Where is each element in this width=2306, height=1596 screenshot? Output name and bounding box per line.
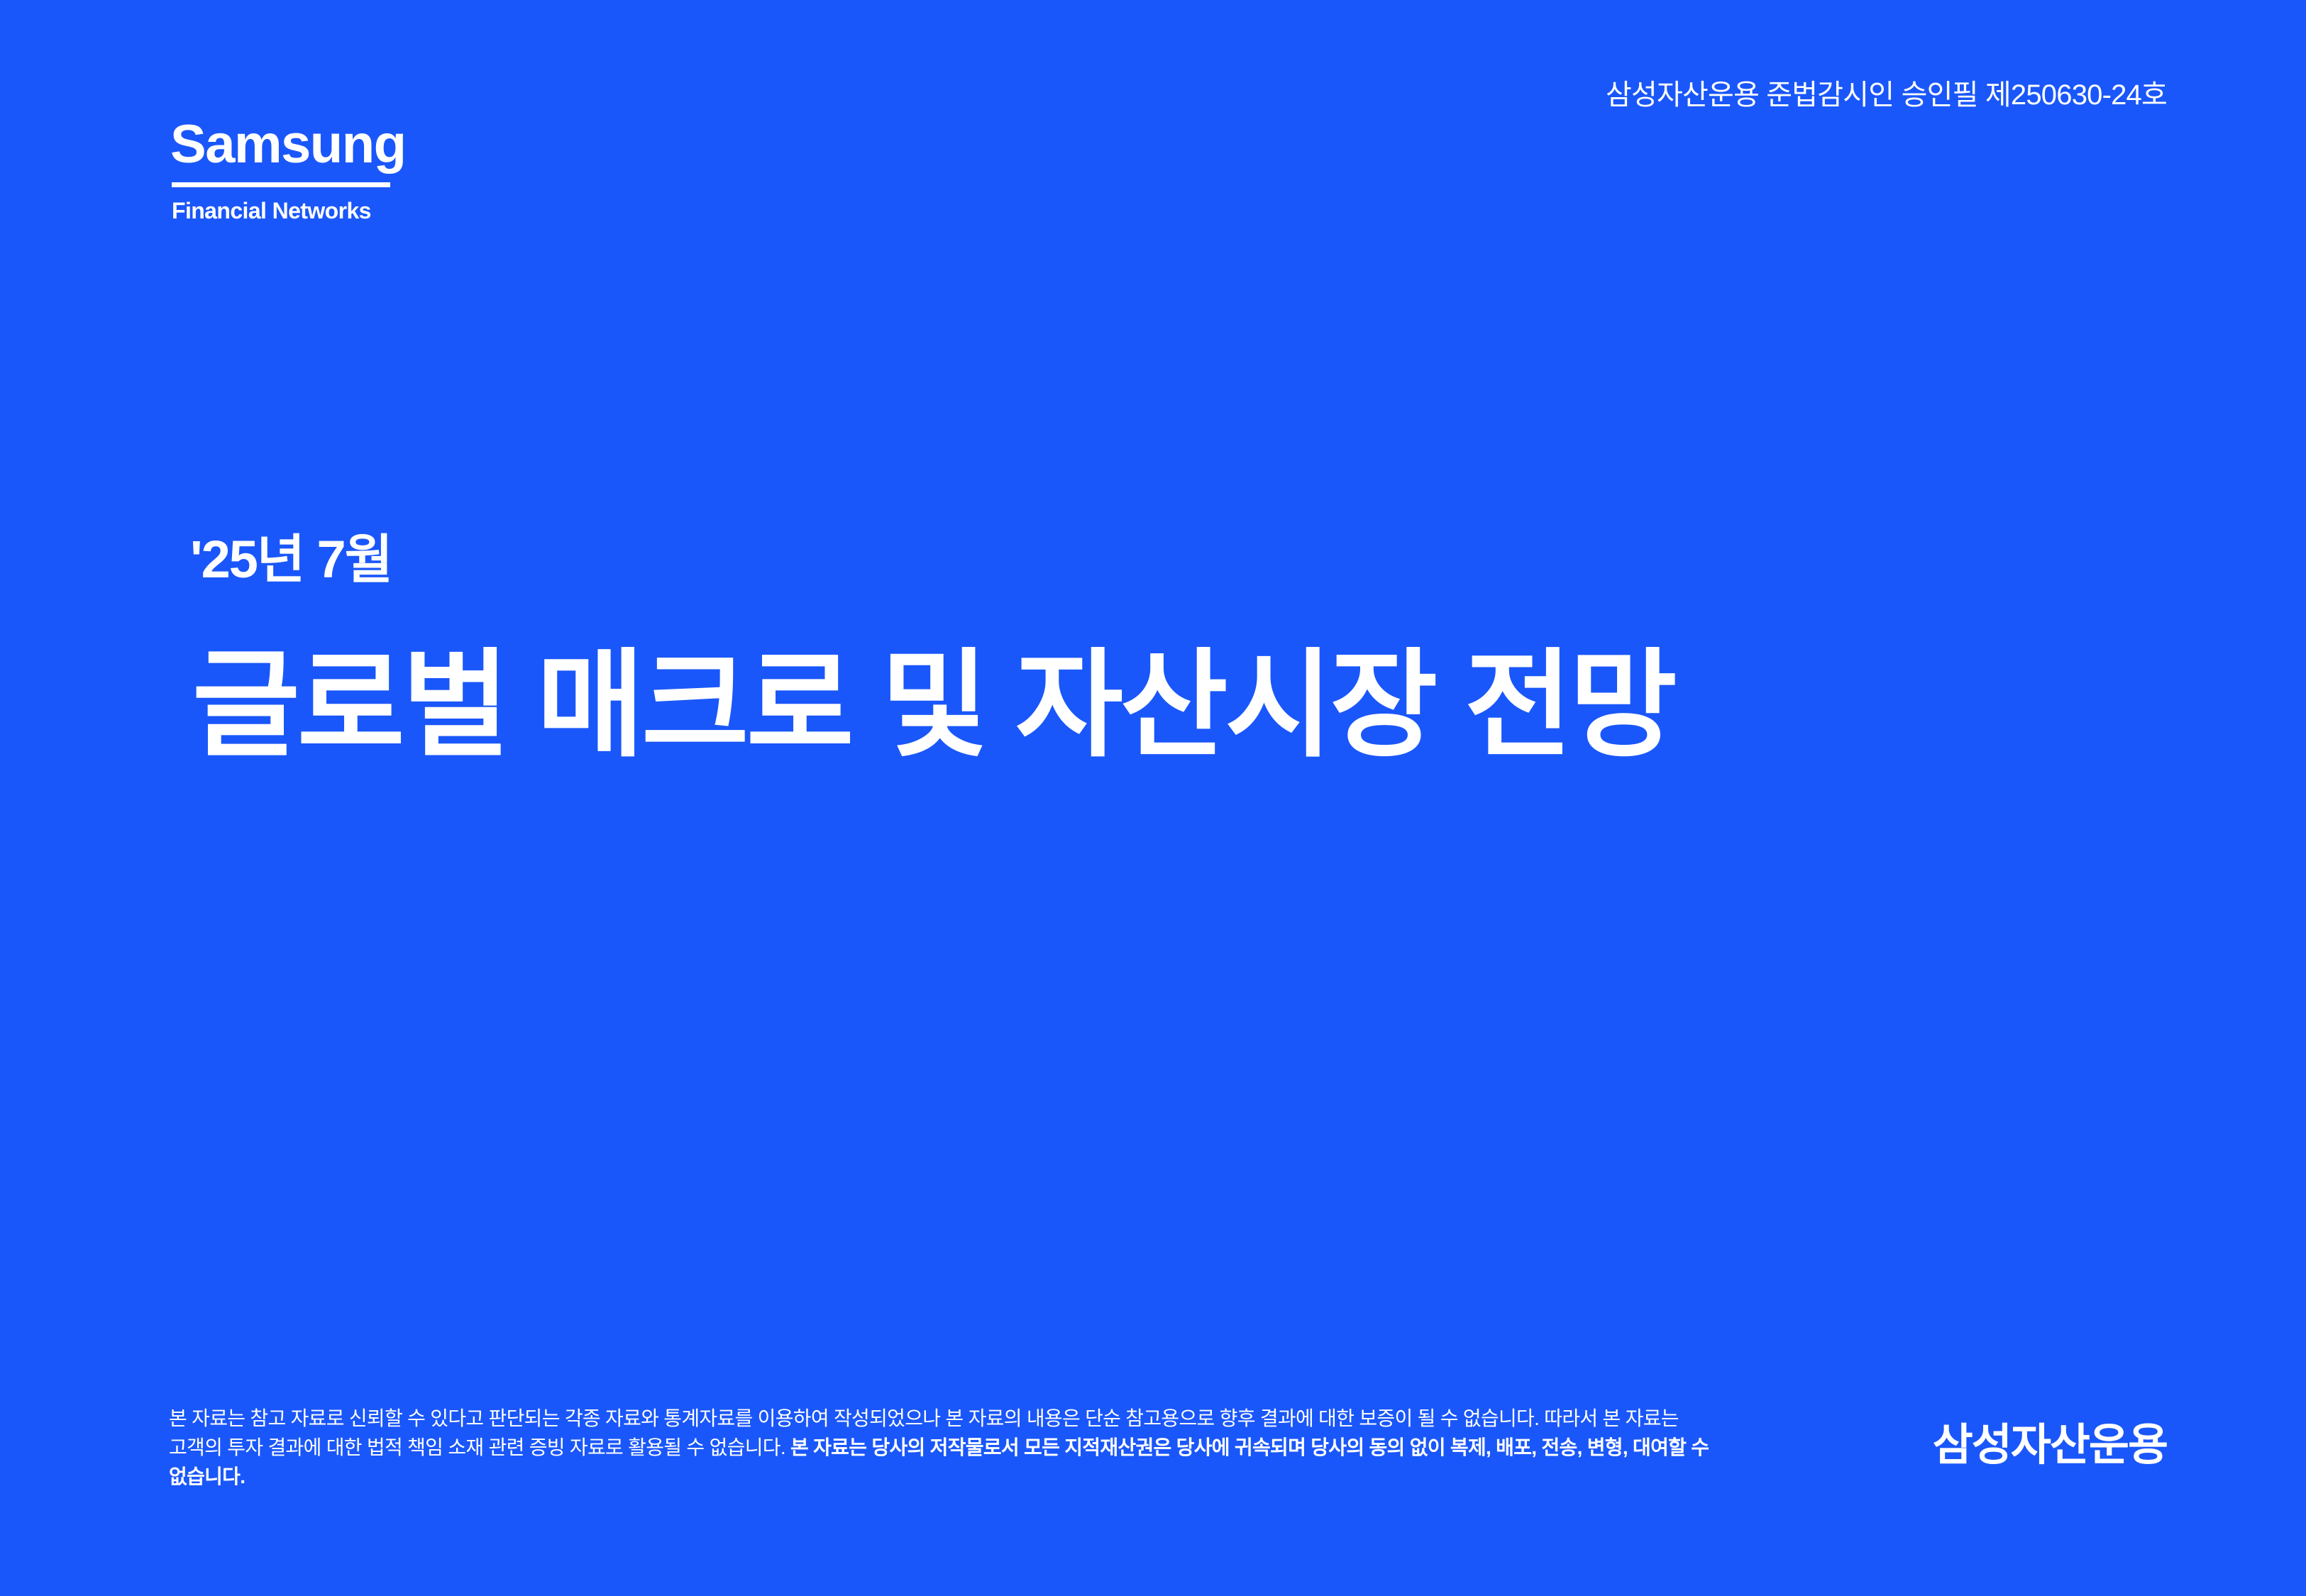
footer: 본 자료는 참고 자료로 신뢰할 수 있다고 판단되는 각종 자료와 통계자료를… <box>0 1404 2306 1491</box>
page-title: 글로벌 매크로 및 자산시장 전망 <box>192 647 2106 764</box>
hero-block: '25년 7월 글로벌 매크로 및 자산시장 전망 <box>190 533 2106 764</box>
samsung-wordmark: Samsung <box>170 119 419 170</box>
compliance-approval-note: 삼성자산운용 준법감시인 승인필 제250630-24호 <box>1606 78 2167 112</box>
cover-slide: Samsung Financial Networks 삼성자산운용 준법감시인 … <box>0 0 2306 1596</box>
logo-divider-rule <box>172 182 390 187</box>
legal-disclaimer: 본 자료는 참고 자료로 신뢰할 수 있다고 판단되는 각종 자료와 통계자료를… <box>169 1404 1730 1491</box>
financial-networks-wordmark: Financial Networks <box>172 199 419 223</box>
samsung-asset-management-mark: 삼성자산운용 <box>1933 1424 2167 1470</box>
report-date-label: '25년 7월 <box>190 533 2106 586</box>
samsung-financial-networks-logo: Samsung Financial Networks <box>170 119 419 223</box>
